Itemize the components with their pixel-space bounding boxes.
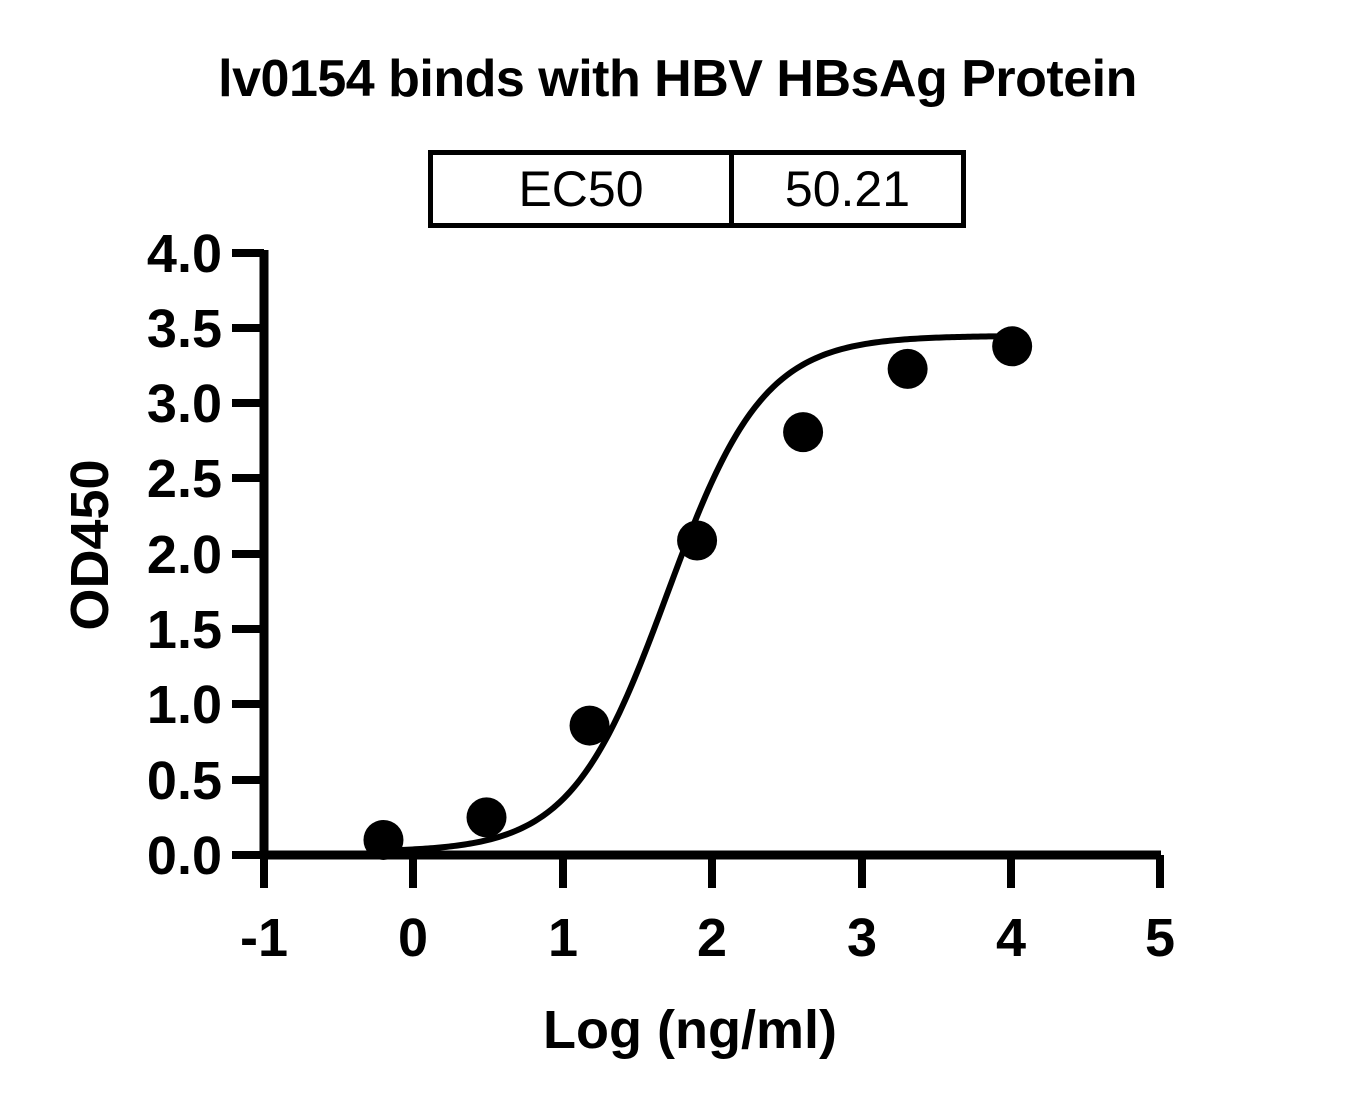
data-point: [363, 820, 403, 860]
data-point: [570, 706, 610, 746]
data-point-group: [363, 326, 1032, 860]
data-point: [783, 412, 823, 452]
y-tick-label: 2.5: [147, 449, 222, 509]
x-tick-label: 4: [996, 908, 1026, 968]
y-axis-title: OD450: [60, 459, 120, 630]
data-point: [467, 797, 507, 837]
y-tick-label: 4.0: [147, 224, 222, 284]
y-tick-label: 0.0: [147, 826, 222, 886]
y-tick-label: 2.0: [147, 525, 222, 585]
x-tick-label: 0: [398, 908, 428, 968]
x-tick-label: -1: [240, 908, 288, 968]
x-tick-label: 2: [697, 908, 727, 968]
plot-area: 0.0 0.5 1.0 1.5 2.0 2.5 3.0 3.5 4.0 -1 0…: [0, 0, 1355, 1107]
y-tick-label: 3.5: [147, 299, 222, 359]
y-tick-label: 1.5: [147, 600, 222, 660]
data-point: [992, 326, 1032, 366]
x-axis-tick-labels: -1 0 1 2 3 4 5: [240, 908, 1175, 968]
fit-curve: [383, 336, 1012, 850]
y-axis-ticks: [232, 253, 264, 855]
data-point: [677, 520, 717, 560]
y-axis-tick-labels: 0.0 0.5 1.0 1.5 2.0 2.5 3.0 3.5 4.0: [147, 224, 222, 886]
data-point: [888, 349, 928, 389]
x-tick-label: 5: [1145, 908, 1175, 968]
chart-figure: lv0154 binds with HBV HBsAg Protein EC50…: [0, 0, 1355, 1107]
y-tick-label: 3.0: [147, 374, 222, 434]
x-tick-label: 3: [847, 908, 877, 968]
x-axis-title: Log (ng/ml): [543, 1000, 837, 1060]
y-tick-label: 1.0: [147, 675, 222, 735]
x-tick-label: 1: [548, 908, 578, 968]
y-tick-label: 0.5: [147, 751, 222, 811]
x-axis-ticks: [264, 855, 1160, 888]
